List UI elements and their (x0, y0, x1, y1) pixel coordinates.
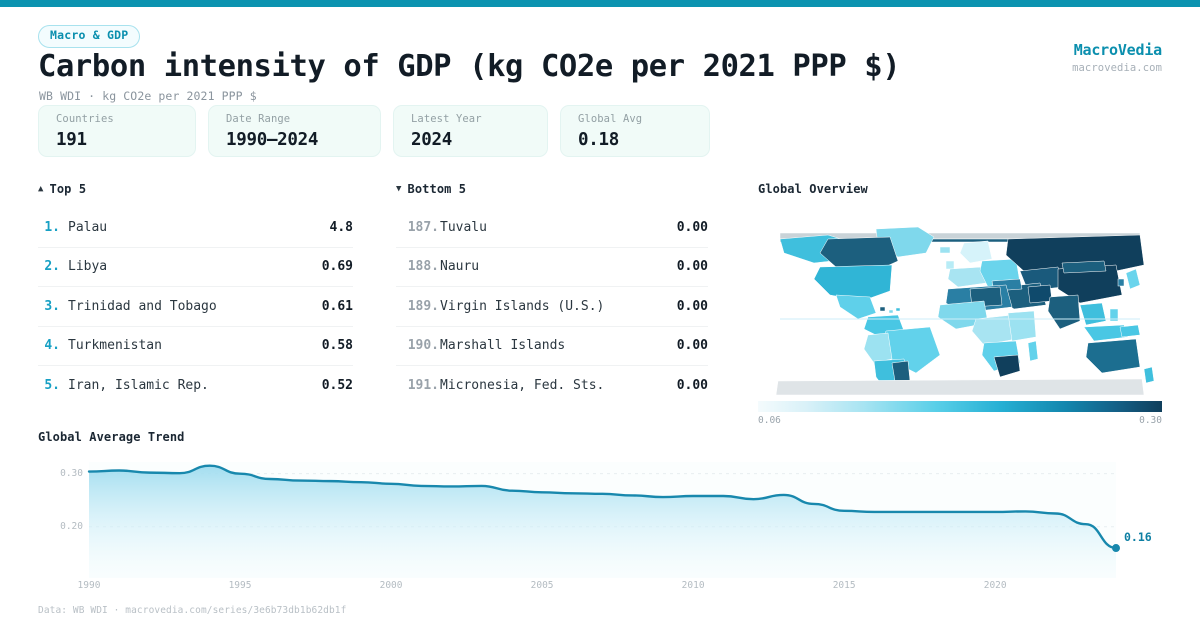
x-axis-tick-label: 2020 (984, 580, 1007, 591)
rank-number: 5. (38, 378, 68, 393)
rank-number: 4. (38, 338, 68, 353)
x-axis-tick-label: 2015 (833, 580, 856, 591)
top-5-title: Top 5 (50, 182, 87, 196)
stat-value: 191 (56, 132, 178, 150)
rank-number: 3. (38, 299, 68, 314)
y-axis-tick-label: 0.20 (43, 521, 83, 532)
rank-number: 2. (38, 259, 68, 274)
bottom-5-panel: ▼ Bottom 5 187.Tuvalu0.00188.Nauru0.0018… (396, 182, 708, 406)
map-legend-labels: 0.06 0.30 (758, 415, 1162, 426)
rank-row[interactable]: 191.Micronesia, Fed. Sts.0.00 (396, 366, 708, 406)
rank-value: 0.00 (662, 259, 708, 274)
stat-card-latest-year: Latest Year 2024 (393, 105, 548, 157)
x-axis-tick-label: 2005 (531, 580, 554, 591)
x-axis-tick-label: 2000 (380, 580, 403, 591)
rank-row[interactable]: 4.Turkmenistan0.58 (38, 327, 353, 367)
top-5-rows: 1.Palau4.82.Libya0.693.Trinidad and Toba… (38, 208, 353, 406)
stat-value: 2024 (411, 132, 530, 150)
rank-value: 0.61 (307, 299, 353, 314)
bottom-5-rows: 187.Tuvalu0.00188.Nauru0.00189.Virgin Is… (396, 208, 708, 406)
category-badge: Macro & GDP (38, 25, 140, 48)
rank-number: 188. (396, 259, 440, 274)
bottom-5-heading: ▼ Bottom 5 (396, 182, 708, 196)
trend-title: Global Average Trend (38, 430, 1162, 444)
map-title: Global Overview (758, 182, 1162, 196)
rank-country-name: Tuvalu (440, 220, 662, 235)
rank-value: 4.8 (307, 220, 353, 235)
triangle-up-icon: ▲ (38, 185, 44, 194)
footer-source: Data: WB WDI · macrovedia.com/series/3e6… (38, 605, 346, 616)
rank-number: 190. (396, 338, 440, 353)
y-axis-tick-label: 0.30 (43, 468, 83, 479)
rank-row[interactable]: 2.Libya0.69 (38, 248, 353, 288)
x-axis-tick-label: 1995 (229, 580, 252, 591)
rank-value: 0.00 (662, 338, 708, 353)
page-subtitle: WB WDI · kg CO2e per 2021 PPP $ (39, 89, 257, 103)
world-choropleth-map (758, 209, 1162, 397)
rank-row[interactable]: 187.Tuvalu0.00 (396, 208, 708, 248)
rank-value: 0.00 (662, 220, 708, 235)
rank-value: 0.00 (662, 378, 708, 393)
trend-end-value-label: 0.16 (1124, 530, 1152, 544)
rank-row[interactable]: 188.Nauru0.00 (396, 248, 708, 288)
legend-min-label: 0.06 (758, 415, 781, 426)
stat-cards: Countries 191 Date Range 1990–2024 Lates… (38, 105, 710, 157)
rank-number: 187. (396, 220, 440, 235)
x-axis-tick-label: 1990 (78, 580, 101, 591)
brand-block: MacroVedia macrovedia.com (1072, 41, 1162, 74)
rank-country-name: Iran, Islamic Rep. (68, 378, 307, 393)
rank-country-name: Nauru (440, 259, 662, 274)
stat-value: 1990–2024 (226, 132, 363, 150)
map-color-legend (758, 401, 1162, 412)
rank-value: 0.58 (307, 338, 353, 353)
rank-country-name: Micronesia, Fed. Sts. (440, 378, 662, 393)
rank-country-name: Palau (68, 220, 307, 235)
trend-chart: 0.200.3019901995200020052010201520200.16 (38, 454, 1162, 584)
page-title: Carbon intensity of GDP (kg CO2e per 202… (38, 49, 900, 84)
rank-country-name: Libya (68, 259, 307, 274)
top-5-heading: ▲ Top 5 (38, 182, 353, 196)
brand-url: macrovedia.com (1072, 62, 1162, 74)
x-axis-tick-label: 2010 (682, 580, 705, 591)
legend-max-label: 0.30 (1139, 415, 1162, 426)
top-5-panel: ▲ Top 5 1.Palau4.82.Libya0.693.Trinidad … (38, 182, 353, 406)
rank-row[interactable]: 190.Marshall Islands0.00 (396, 327, 708, 367)
stat-label: Latest Year (411, 114, 530, 125)
stat-label: Countries (56, 114, 178, 125)
stat-value: 0.18 (578, 132, 692, 150)
rank-number: 189. (396, 299, 440, 314)
rank-country-name: Virgin Islands (U.S.) (440, 299, 662, 314)
brand-name: MacroVedia (1072, 41, 1162, 59)
rank-row[interactable]: 1.Palau4.8 (38, 208, 353, 248)
global-average-trend-panel: Global Average Trend 0.200.3019901995200… (38, 430, 1162, 584)
stat-label: Global Avg (578, 114, 692, 125)
rank-number: 1. (38, 220, 68, 235)
rank-value: 0.69 (307, 259, 353, 274)
rank-row[interactable]: 189.Virgin Islands (U.S.)0.00 (396, 287, 708, 327)
rank-country-name: Trinidad and Tobago (68, 299, 307, 314)
rank-value: 0.52 (307, 378, 353, 393)
stat-card-global-avg: Global Avg 0.18 (560, 105, 710, 157)
stat-label: Date Range (226, 114, 363, 125)
rank-row[interactable]: 5.Iran, Islamic Rep.0.52 (38, 366, 353, 406)
stat-card-countries: Countries 191 (38, 105, 196, 157)
rank-number: 191. (396, 378, 440, 393)
page-header: Macro & GDP Carbon intensity of GDP (kg … (0, 7, 1200, 99)
bottom-5-title: Bottom 5 (408, 182, 467, 196)
rank-country-name: Marshall Islands (440, 338, 662, 353)
rank-country-name: Turkmenistan (68, 338, 307, 353)
top-accent-bar (0, 0, 1200, 7)
rank-row[interactable]: 3.Trinidad and Tobago0.61 (38, 287, 353, 327)
triangle-down-icon: ▼ (396, 185, 402, 194)
rank-value: 0.00 (662, 299, 708, 314)
stat-card-date-range: Date Range 1990–2024 (208, 105, 381, 157)
global-overview-panel: Global Overview (758, 182, 1162, 426)
